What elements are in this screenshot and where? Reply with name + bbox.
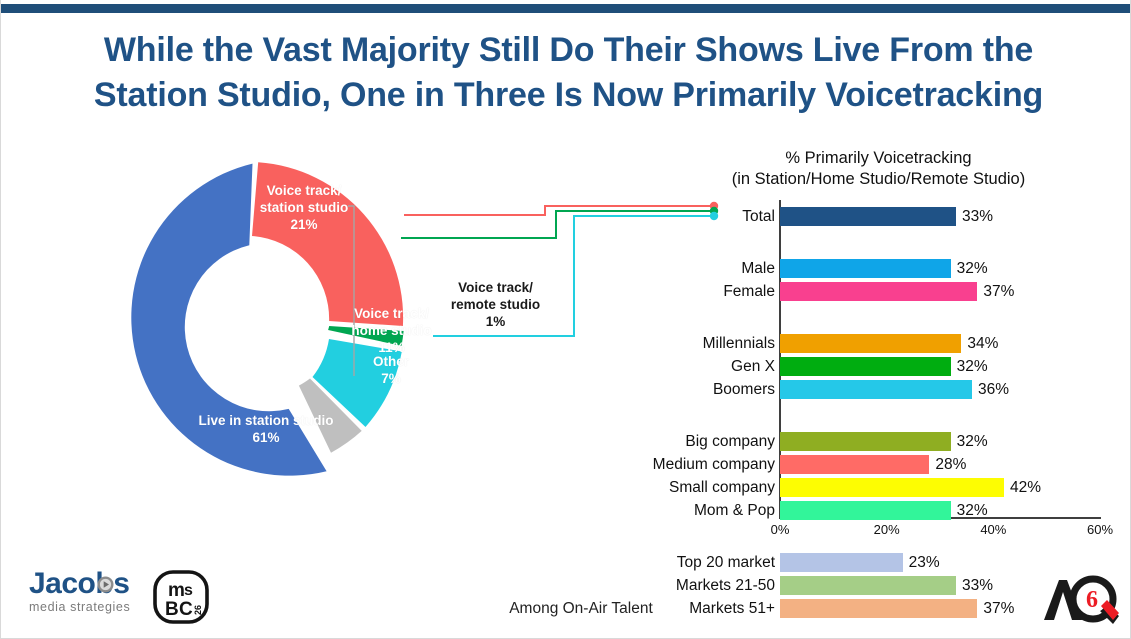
bar-rect <box>780 380 972 399</box>
bar-value-label: 42% <box>1010 477 1041 498</box>
bar-category-label: Boomers <box>565 379 775 400</box>
bar-rect <box>780 282 977 301</box>
donut-label-value: 1% <box>486 314 506 329</box>
slide-canvas: While the Vast Majority Still Do Their S… <box>0 0 1131 639</box>
bar-value-label: 32% <box>957 500 988 521</box>
donut-label-live-in-station-studio: Live in station studio 61% <box>146 412 386 446</box>
svg-text:s: s <box>184 582 193 599</box>
bar-chart-title-line2: (in Station/Home Studio/Remote Studio) <box>656 169 1101 190</box>
bar-rect <box>780 207 956 226</box>
bar-value-label: 33% <box>962 575 993 596</box>
top-accent-band <box>1 4 1131 13</box>
bar-category-label: Gen X <box>565 356 775 377</box>
x-axis-tick-label: 0% <box>755 522 805 537</box>
donut-label-value: 21% <box>290 217 317 232</box>
bar-category-label: Female <box>565 281 775 302</box>
page-title: While the Vast Majority Still Do Their S… <box>46 28 1091 118</box>
msbc-logo: m s B C 26 <box>153 570 209 624</box>
donut-label-line1: Voice track/ <box>354 306 429 321</box>
aq-logo-digit: 6 <box>1086 587 1098 613</box>
bar-value-label: 36% <box>978 379 1009 400</box>
x-axis-tick-label: 60% <box>1075 522 1125 537</box>
donut-label-line1: Voice track/ <box>458 280 533 295</box>
donut-label-voicetrack-station-studio: Voice track/ station studio 21% <box>234 182 374 233</box>
bar-category-label: Top 20 market <box>565 552 775 573</box>
bar-value-label: 28% <box>935 454 966 475</box>
donut-label-value: 7% <box>381 371 401 386</box>
bar-rect <box>780 599 977 618</box>
bar-category-label: Big company <box>565 431 775 452</box>
bar-row: Medium company28% <box>656 454 1106 475</box>
bar-chart-plot-area: Total33%Male32%Female37%Millennials34%Ge… <box>656 200 1106 520</box>
bar-row: Markets 21-5033% <box>656 575 1106 596</box>
donut-label-line1: Live in station studio <box>198 413 333 428</box>
bar-row: Male32% <box>656 258 1106 279</box>
jacobs-media-strategies-logo: Jacobs media strategies <box>29 568 164 624</box>
bar-value-label: 37% <box>983 281 1014 302</box>
bar-value-label: 33% <box>962 206 993 227</box>
bar-chart-title-line1: % Primarily Voicetracking <box>656 148 1101 169</box>
bar-category-label: Millennials <box>565 333 775 354</box>
donut-label-other: Other 7% <box>351 353 431 387</box>
bar-rect <box>780 478 1004 497</box>
bar-value-label: 34% <box>967 333 998 354</box>
bar-value-label: 32% <box>957 356 988 377</box>
bar-rect <box>780 432 951 451</box>
bar-chart-title: % Primarily Voicetracking (in Station/Ho… <box>656 148 1101 190</box>
svg-text:C: C <box>179 599 193 620</box>
bar-rect <box>780 455 929 474</box>
bar-row: Boomers36% <box>656 379 1106 400</box>
bar-chart: % Primarily Voicetracking (in Station/Ho… <box>656 148 1106 548</box>
page-title-line2: Station Studio, One in Three Is Now Prim… <box>46 73 1091 118</box>
bar-row: Small company42% <box>656 477 1106 498</box>
bar-row: Big company32% <box>656 431 1106 452</box>
bar-rect <box>780 334 961 353</box>
bar-rect <box>780 553 903 572</box>
donut-label-line1: Other <box>373 354 409 369</box>
x-axis-tick-label: 20% <box>862 522 912 537</box>
bar-row: Total33% <box>656 206 1106 227</box>
aq6-logo: 6 <box>1041 572 1119 624</box>
donut-label-line2: home studio <box>351 323 431 338</box>
bar-category-label: Total <box>565 206 775 227</box>
donut-label-value: 61% <box>252 430 279 445</box>
svg-text:26: 26 <box>193 605 203 615</box>
x-axis-tick-label: 40% <box>968 522 1018 537</box>
play-button-icon <box>97 576 114 593</box>
jacobs-wordmark-text: Jacobs <box>29 567 129 600</box>
bar-row: Mom & Pop32% <box>656 500 1106 521</box>
jacobs-tagline: media strategies <box>29 600 164 615</box>
footer-note: Among On-Air Talent <box>421 600 741 618</box>
bar-value-label: 32% <box>957 431 988 452</box>
bar-rect <box>780 357 951 376</box>
bar-category-label: Male <box>565 258 775 279</box>
donut-label-line1: Voice track/ <box>267 183 342 198</box>
svg-text:B: B <box>165 599 179 620</box>
bar-row: Millennials34% <box>656 333 1106 354</box>
page-title-line1: While the Vast Majority Still Do Their S… <box>46 28 1091 73</box>
bar-value-label: 37% <box>983 598 1014 619</box>
bar-category-label: Markets 21-50 <box>565 575 775 596</box>
svg-text:m: m <box>168 580 185 601</box>
donut-label-line2: remote studio <box>451 297 540 312</box>
bar-row: Top 20 market23% <box>656 552 1106 573</box>
donut-chart: Voice track/ station studio 21% Voice tr… <box>76 140 436 510</box>
jacobs-wordmark: Jacobs <box>29 568 164 600</box>
bar-value-label: 32% <box>957 258 988 279</box>
bar-category-label: Medium company <box>565 454 775 475</box>
bar-value-label: 23% <box>909 552 940 573</box>
donut-label-voicetrack-remote-studio: Voice track/ remote studio 1% <box>428 279 563 330</box>
bar-rect <box>780 576 956 595</box>
bar-rect <box>780 259 951 278</box>
bar-row: Female37% <box>656 281 1106 302</box>
donut-label-line2: station studio <box>260 200 349 215</box>
bar-rect <box>780 501 951 520</box>
bar-row: Gen X32% <box>656 356 1106 377</box>
bar-category-label: Mom & Pop <box>565 500 775 521</box>
bar-category-label: Small company <box>565 477 775 498</box>
